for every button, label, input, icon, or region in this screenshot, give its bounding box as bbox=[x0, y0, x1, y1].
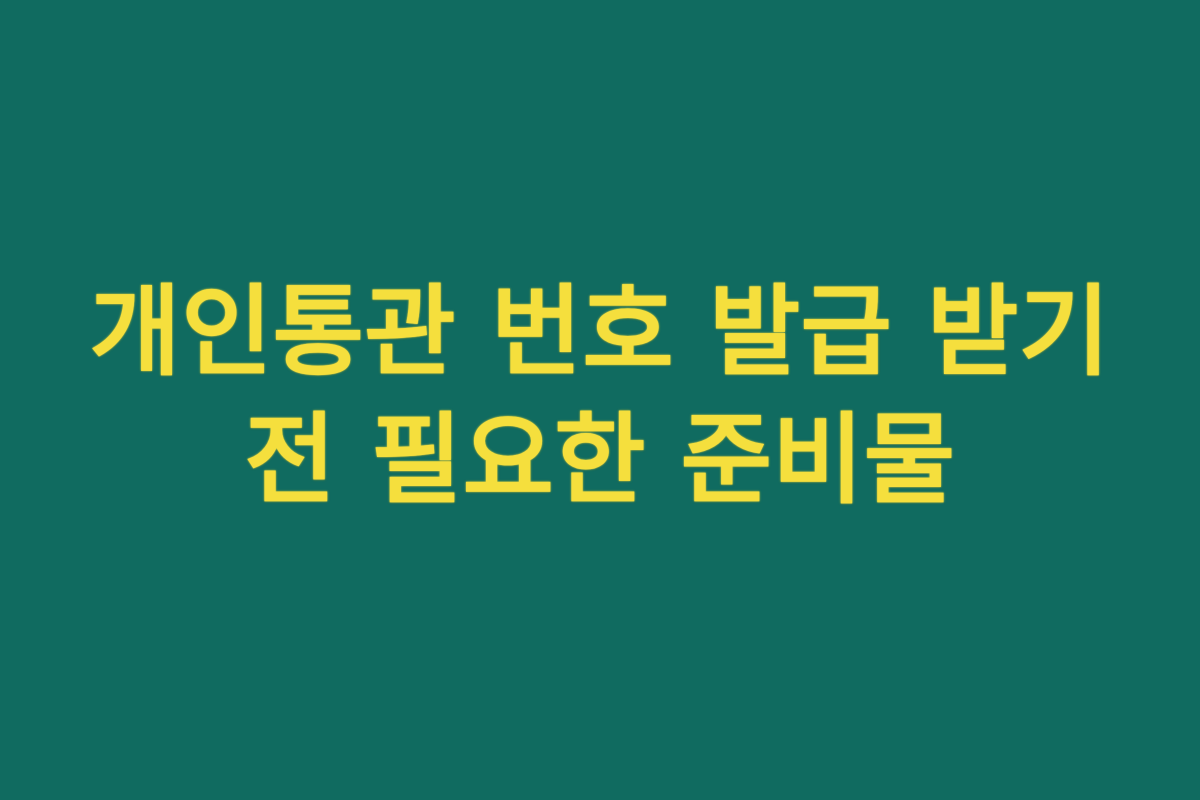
headline-block: 개인통관 번호 발급 받기 전 필요한 준비물 bbox=[0, 269, 1200, 525]
headline-line-1: 개인통관 번호 발급 받기 bbox=[90, 269, 1111, 397]
headline-line-2: 전 필요한 준비물 bbox=[245, 397, 956, 525]
thumbnail-canvas: 개인통관 번호 발급 받기 전 필요한 준비물 bbox=[0, 0, 1200, 800]
